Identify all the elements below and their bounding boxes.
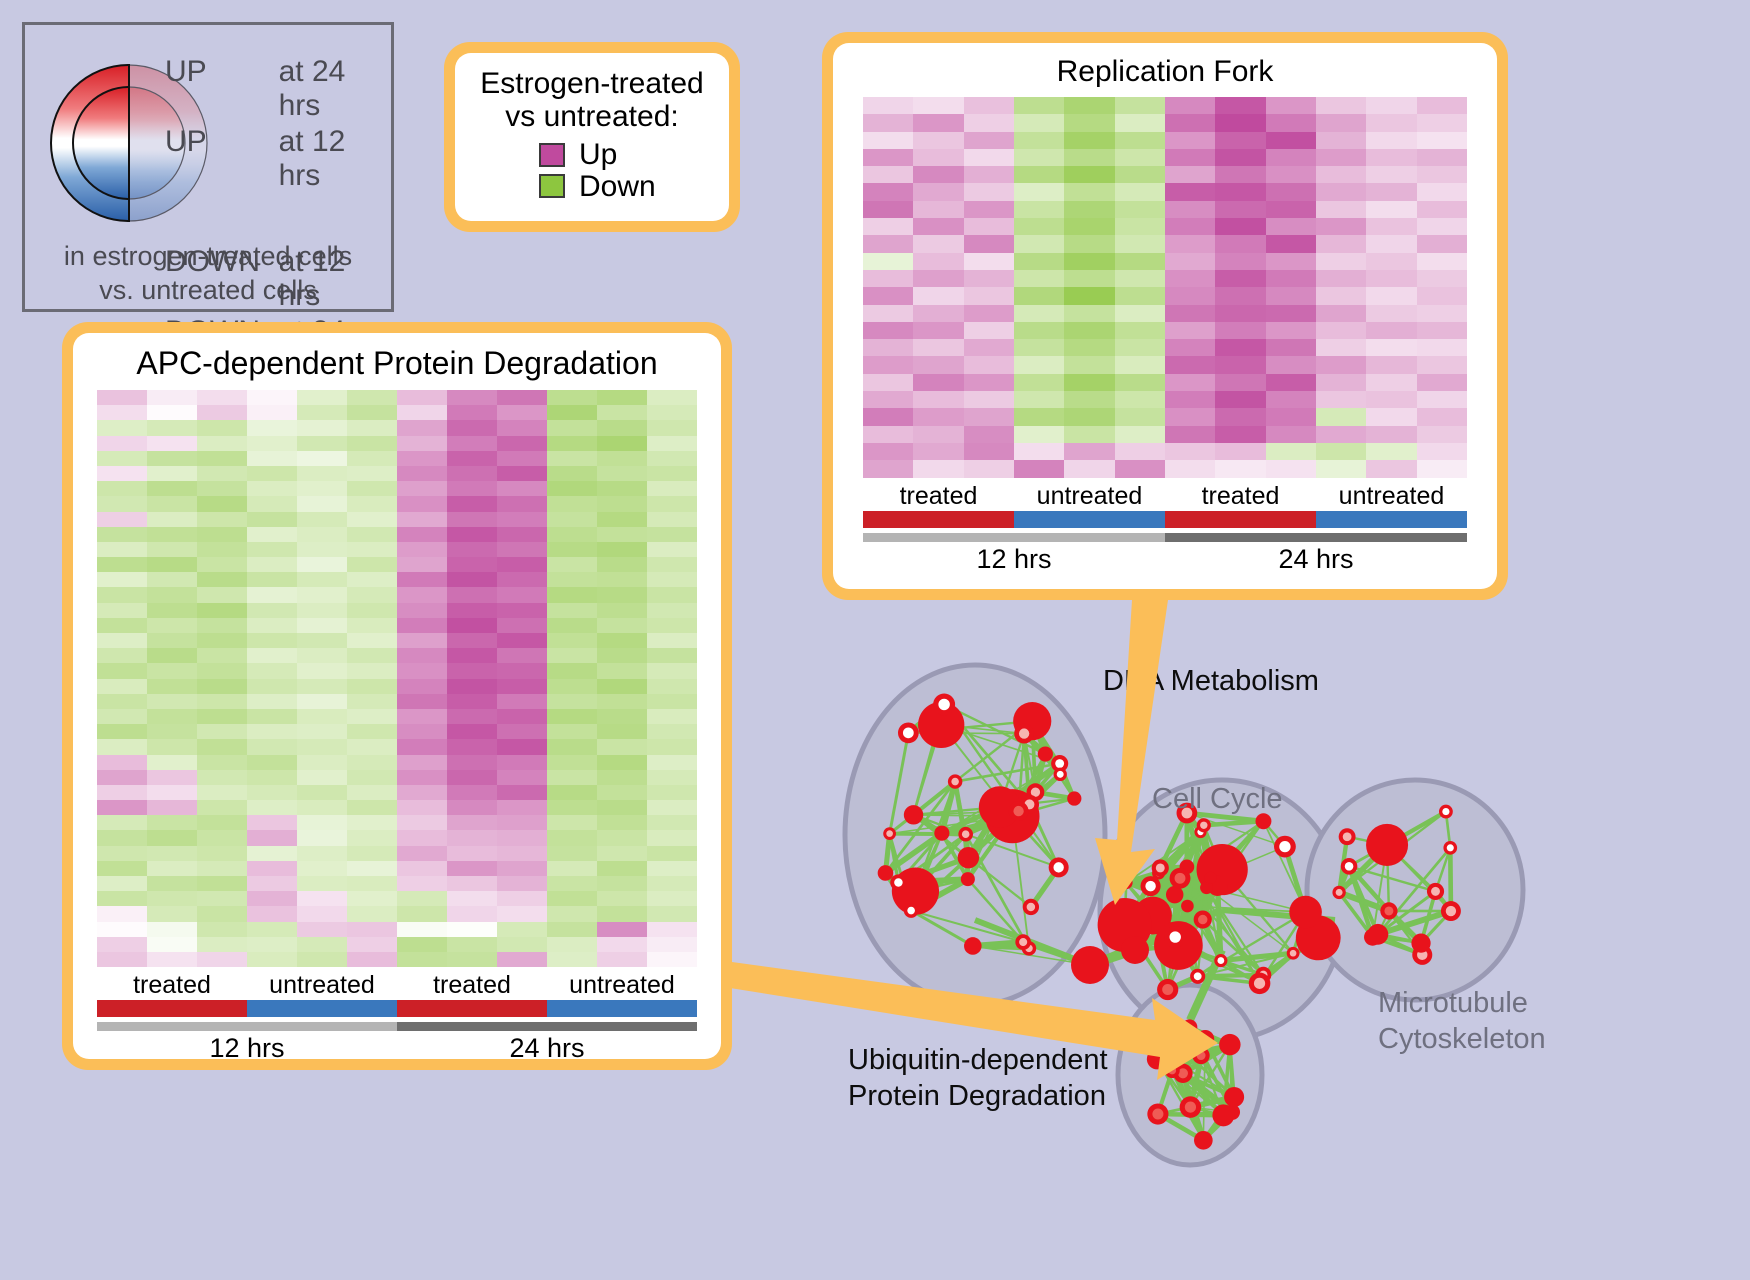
heatmap-cell xyxy=(97,876,147,891)
heatmap-cell xyxy=(247,527,297,542)
heatmap-cell xyxy=(964,114,1014,131)
network-node xyxy=(1120,876,1133,889)
heatmap-cell xyxy=(147,876,197,891)
heatmap-cell xyxy=(397,587,447,602)
heatmap-cell xyxy=(97,785,147,800)
heatmap-cell xyxy=(547,390,597,405)
heatmap-cell xyxy=(647,952,697,967)
network-node xyxy=(1164,1052,1181,1069)
heatmap-cell xyxy=(297,420,347,435)
heatmap-cell xyxy=(247,466,297,481)
heatmap-cell xyxy=(964,460,1014,477)
heatmap-cell xyxy=(1165,270,1215,287)
network-node xyxy=(1427,883,1444,900)
heatmap-cell xyxy=(297,390,347,405)
network-node xyxy=(1180,1096,1202,1118)
heatmap-cell xyxy=(1266,149,1316,166)
heatmap-cell xyxy=(1115,460,1165,477)
network-node xyxy=(1380,902,1397,919)
heatmap-cell xyxy=(347,633,397,648)
heatmap-cell xyxy=(964,183,1014,200)
heatmap-cell xyxy=(597,906,647,921)
heatmap-cell xyxy=(497,618,547,633)
heatmap-cell xyxy=(647,815,697,830)
heatmap-cell xyxy=(547,466,597,481)
heatmap-cell xyxy=(197,952,247,967)
heatmap-cell xyxy=(497,906,547,921)
heatmap-cell xyxy=(1215,426,1265,443)
network-node xyxy=(933,693,955,715)
heatmap-cell xyxy=(497,694,547,709)
heatmap-cell xyxy=(397,739,447,754)
heatmap-cell xyxy=(1316,322,1366,339)
heatmap-cell xyxy=(397,830,447,845)
heatmap-cell xyxy=(247,390,297,405)
heatmap-cell xyxy=(447,542,497,557)
heatmap-cell xyxy=(1115,253,1165,270)
heatmap-cell xyxy=(397,755,447,770)
heatmap-cell xyxy=(647,755,697,770)
heatmap-cell xyxy=(1366,253,1416,270)
heatmap-cell xyxy=(1316,426,1366,443)
heatmap-cell xyxy=(1215,391,1265,408)
heatmap-cell xyxy=(913,114,963,131)
heatmap-cell xyxy=(97,436,147,451)
heatmap-cell xyxy=(913,149,963,166)
heatmap-cell xyxy=(297,815,347,830)
heatmap-cell xyxy=(1014,287,1064,304)
heatmap-cell xyxy=(863,322,913,339)
network-node xyxy=(1038,746,1053,761)
heatmap-cell xyxy=(1064,426,1114,443)
group-label: untreated xyxy=(1014,482,1165,511)
heatmap-cell xyxy=(447,405,497,420)
heatmap-cell xyxy=(447,846,497,861)
heatmap-cell xyxy=(297,633,347,648)
heatmap-cell xyxy=(497,785,547,800)
heatmap-cell xyxy=(397,922,447,937)
replication-fork-group-labels: treated untreated treated untreated xyxy=(863,482,1467,511)
heatmap-cell xyxy=(1316,408,1366,425)
heatmap-cell xyxy=(297,587,347,602)
heatmap-cell xyxy=(964,305,1014,322)
heatmap-cell xyxy=(447,724,497,739)
heatmap-cell xyxy=(147,800,197,815)
heatmap-cell xyxy=(347,527,397,542)
heatmap-cell xyxy=(397,785,447,800)
heatmap-cell xyxy=(1014,235,1064,252)
heatmap-cell xyxy=(597,618,647,633)
heatmap-cell xyxy=(1417,426,1467,443)
heatmap-cell xyxy=(597,557,647,572)
heatmap-cell xyxy=(147,922,197,937)
heatmap-cell xyxy=(347,451,397,466)
heatmap-cell xyxy=(247,496,297,511)
heatmap-cell xyxy=(547,876,597,891)
heatmap-cell xyxy=(97,846,147,861)
heatmap-cell xyxy=(447,922,497,937)
heatmap-cell xyxy=(1366,166,1416,183)
heatmap-cell xyxy=(863,391,913,408)
heatmap-cell xyxy=(1316,460,1366,477)
heatmap-cell xyxy=(247,952,297,967)
heatmap-cell xyxy=(863,166,913,183)
network-node xyxy=(1332,886,1345,899)
heatmap-cell xyxy=(1417,253,1467,270)
heatmap-cell xyxy=(97,937,147,952)
heatmap-cell xyxy=(1215,183,1265,200)
heatmap-cell xyxy=(97,755,147,770)
heatmap-cell xyxy=(597,542,647,557)
heatmap-cell xyxy=(447,709,497,724)
heatmap-cell xyxy=(1014,443,1064,460)
heatmap-cell xyxy=(147,436,197,451)
heatmap-cell xyxy=(447,496,497,511)
heatmap-cell xyxy=(447,876,497,891)
heatmap-cell xyxy=(913,201,963,218)
heatmap-cell xyxy=(1115,114,1165,131)
heatmap-cell xyxy=(197,785,247,800)
heatmap-cell xyxy=(647,937,697,952)
heatmap-cell xyxy=(1064,132,1114,149)
heatmap-cell xyxy=(1165,235,1215,252)
cluster-label-cell-cycle: Cell Cycle xyxy=(1152,783,1283,816)
heatmap-cell xyxy=(1115,149,1165,166)
heatmap-cell xyxy=(647,922,697,937)
heatmap-cell xyxy=(347,420,397,435)
network-node xyxy=(1441,901,1461,921)
heatmap-cell xyxy=(347,952,397,967)
heatmap-cell xyxy=(1014,166,1064,183)
heatmap-cell xyxy=(597,815,647,830)
heatmap-cell xyxy=(647,739,697,754)
heatmap-cell xyxy=(547,861,597,876)
network-node xyxy=(1249,973,1271,995)
heatmap-cell xyxy=(547,587,597,602)
apc-degradation-heatmap xyxy=(97,390,697,967)
heatmap-cell xyxy=(147,755,197,770)
heatmap-cell xyxy=(1064,270,1114,287)
network-node xyxy=(1366,824,1408,866)
heatmap-cell xyxy=(547,405,597,420)
heatmap-cell xyxy=(97,603,147,618)
heatmap-cell xyxy=(647,436,697,451)
heatmap-cell xyxy=(547,800,597,815)
heatmap-cell xyxy=(197,512,247,527)
heatmap-cell xyxy=(597,603,647,618)
heatmap-cell xyxy=(913,253,963,270)
heatmap-cell xyxy=(1215,305,1265,322)
heatmap-cell xyxy=(647,785,697,800)
heatmap-cell xyxy=(247,800,297,815)
heatmap-cell xyxy=(497,527,547,542)
heatmap-cell xyxy=(1366,270,1416,287)
heatmap-cell xyxy=(447,815,497,830)
heatmap-cell xyxy=(347,405,397,420)
network-node xyxy=(1147,1103,1168,1124)
heatmap-cell xyxy=(964,391,1014,408)
heatmap-cell xyxy=(1417,270,1467,287)
heatmap-cell xyxy=(913,339,963,356)
heatmap-cell xyxy=(347,694,397,709)
heatmap-cell xyxy=(247,891,297,906)
heatmap-cell xyxy=(964,443,1014,460)
heatmap-cell xyxy=(1417,235,1467,252)
heatmap-cell xyxy=(497,709,547,724)
heatmap-cell xyxy=(1115,356,1165,373)
heatmap-cell xyxy=(1115,391,1165,408)
heatmap-cell xyxy=(97,694,147,709)
network-node xyxy=(934,826,949,841)
heatmap-cell xyxy=(547,496,597,511)
heatmap-cell xyxy=(197,663,247,678)
heatmap-cell xyxy=(497,770,547,785)
heatmap-cell xyxy=(1165,166,1215,183)
heatmap-cell xyxy=(397,770,447,785)
heatmap-cell xyxy=(1215,97,1265,114)
heatmap-cell xyxy=(97,830,147,845)
heatmap-cell xyxy=(913,235,963,252)
heatmap-cell xyxy=(647,648,697,663)
heatmap-cell xyxy=(447,830,497,845)
heatmap-cell xyxy=(147,724,197,739)
group-label: treated xyxy=(863,482,1014,511)
heatmap-cell xyxy=(647,603,697,618)
heatmap-cell xyxy=(247,557,297,572)
heatmap-cell xyxy=(197,405,247,420)
heatmap-cell xyxy=(397,846,447,861)
group-label: untreated xyxy=(1316,482,1467,511)
heatmap-cell xyxy=(1215,374,1265,391)
heatmap-cell xyxy=(547,694,597,709)
figure-canvas: UP at 24 hrs UP at 12 hrs DOWN at 12 hrs… xyxy=(0,0,1750,1279)
heatmap-cell xyxy=(1064,408,1114,425)
heatmap-cell xyxy=(447,739,497,754)
heatmap-cell xyxy=(497,800,547,815)
heatmap-cell xyxy=(1366,149,1416,166)
heatmap-cell xyxy=(497,724,547,739)
heatmap-cell xyxy=(597,739,647,754)
time-bar-segment xyxy=(863,533,1165,542)
heatmap-cell xyxy=(1316,235,1366,252)
heatmap-cell xyxy=(1316,201,1366,218)
heatmap-cell xyxy=(397,937,447,952)
heatmap-cell xyxy=(1417,132,1467,149)
heatmap-cell xyxy=(1014,132,1064,149)
heatmap-cell xyxy=(197,496,247,511)
heatmap-cell xyxy=(1115,218,1165,235)
heatmap-cell xyxy=(1417,322,1467,339)
heatmap-cell xyxy=(547,618,597,633)
heatmap-cell xyxy=(447,800,497,815)
heatmap-cell xyxy=(1316,391,1366,408)
heatmap-cell xyxy=(1417,408,1467,425)
heatmap-cell xyxy=(647,709,697,724)
heatmap-cell xyxy=(97,557,147,572)
heatmap-cell xyxy=(197,922,247,937)
heatmap-cell xyxy=(647,830,697,845)
heatmap-cell xyxy=(197,891,247,906)
network-node xyxy=(1054,768,1067,781)
key-item-label: Up xyxy=(579,139,617,171)
heatmap-cell xyxy=(647,633,697,648)
heatmap-cell xyxy=(964,374,1014,391)
heatmap-cell xyxy=(347,891,397,906)
heatmap-cell xyxy=(497,922,547,937)
heatmap-cell xyxy=(1417,166,1467,183)
heatmap-cell xyxy=(297,512,347,527)
heatmap-cell xyxy=(297,785,347,800)
network-node xyxy=(883,827,896,840)
heatmap-cell xyxy=(1115,426,1165,443)
heatmap-cell xyxy=(297,663,347,678)
heatmap-cell xyxy=(347,587,397,602)
heatmap-cell xyxy=(297,861,347,876)
heatmap-cell xyxy=(597,922,647,937)
heatmap-cell xyxy=(247,648,297,663)
heatmap-cell xyxy=(247,906,297,921)
heatmap-cell xyxy=(547,815,597,830)
heatmap-cell xyxy=(863,426,913,443)
heatmap-cell xyxy=(297,648,347,663)
heatmap-cell xyxy=(1417,114,1467,131)
heatmap-cell xyxy=(447,557,497,572)
heatmap-cell xyxy=(197,906,247,921)
heatmap-cell xyxy=(97,481,147,496)
network-node xyxy=(1443,841,1457,855)
network-node xyxy=(1015,934,1031,950)
heatmap-cell xyxy=(913,391,963,408)
heatmap-cell xyxy=(1266,391,1316,408)
network-node xyxy=(1339,828,1356,845)
group-label: treated xyxy=(97,971,247,1000)
heatmap-cell xyxy=(447,587,497,602)
heatmap-cell xyxy=(1064,114,1114,131)
heatmap-cell xyxy=(1115,305,1165,322)
network-node xyxy=(904,805,923,824)
heatmap-cell xyxy=(1115,166,1165,183)
heatmap-cell xyxy=(1266,356,1316,373)
heatmap-cell xyxy=(297,846,347,861)
heatmap-cell xyxy=(1366,460,1416,477)
heatmap-cell xyxy=(597,755,647,770)
heatmap-cell xyxy=(547,739,597,754)
network-node xyxy=(958,847,979,868)
heatmap-cell xyxy=(147,466,197,481)
updown-key-panel: Estrogen-treated vs untreated: Up Down xyxy=(444,42,740,232)
apc-degradation-title: APC-dependent Protein Degradation xyxy=(73,333,721,382)
heatmap-cell xyxy=(97,891,147,906)
heatmap-cell xyxy=(197,755,247,770)
heatmap-cell xyxy=(597,451,647,466)
heatmap-cell xyxy=(447,861,497,876)
heatmap-cell xyxy=(1165,149,1215,166)
heatmap-cell xyxy=(97,587,147,602)
heatmap-cell xyxy=(547,542,597,557)
heatmap-cell xyxy=(1064,183,1114,200)
network-node xyxy=(1014,724,1034,744)
heatmap-cell xyxy=(347,800,397,815)
heatmap-cell xyxy=(1014,408,1064,425)
heatmap-cell xyxy=(1266,201,1316,218)
heatmap-cell xyxy=(497,876,547,891)
heatmap-cell xyxy=(1165,305,1215,322)
heatmap-cell xyxy=(647,420,697,435)
heatmap-cell xyxy=(913,356,963,373)
heatmap-cell xyxy=(347,572,397,587)
treatment-bar-segment xyxy=(247,1000,397,1017)
heatmap-cell xyxy=(497,603,547,618)
heatmap-cell xyxy=(147,512,197,527)
heatmap-cell xyxy=(1316,356,1366,373)
microtubule-label-line2: Cytoskeleton xyxy=(1378,1021,1546,1057)
heatmap-cell xyxy=(247,572,297,587)
apc-time-labels: 12 hrs 24 hrs xyxy=(97,1033,697,1064)
network-node xyxy=(1214,954,1227,967)
heatmap-cell xyxy=(1064,235,1114,252)
heatmap-cell xyxy=(547,724,597,739)
heatmap-cell xyxy=(1064,356,1114,373)
heatmap-cell xyxy=(964,97,1014,114)
heatmap-cell xyxy=(863,270,913,287)
up-swatch-icon xyxy=(539,143,565,167)
heatmap-cell xyxy=(297,891,347,906)
heatmap-cell xyxy=(913,97,963,114)
heatmap-cell xyxy=(547,648,597,663)
heatmap-cell xyxy=(247,618,297,633)
heatmap-cell xyxy=(1266,322,1316,339)
heatmap-cell xyxy=(97,618,147,633)
heatmap-cell xyxy=(247,937,297,952)
heatmap-cell xyxy=(647,663,697,678)
heatmap-cell xyxy=(597,420,647,435)
heatmap-cell xyxy=(97,405,147,420)
heatmap-cell xyxy=(347,846,397,861)
apc-heatmap-wrap: treated untreated treated untreated 12 h xyxy=(73,390,721,1064)
heatmap-cell xyxy=(97,648,147,663)
heatmap-cell xyxy=(347,481,397,496)
heatmap-cell xyxy=(247,785,297,800)
heatmap-cell xyxy=(913,408,963,425)
heatmap-cell xyxy=(347,906,397,921)
heatmap-cell xyxy=(1266,114,1316,131)
legend-row-value: at 12 hrs xyxy=(279,125,391,193)
heatmap-cell xyxy=(297,724,347,739)
heatmap-cell xyxy=(347,466,397,481)
heatmap-cell xyxy=(97,390,147,405)
heatmap-cell xyxy=(964,218,1014,235)
heatmap-cell xyxy=(647,861,697,876)
heatmap-cell xyxy=(147,663,197,678)
heatmap-cell xyxy=(1366,356,1416,373)
heatmap-cell xyxy=(1215,114,1265,131)
heatmap-cell xyxy=(913,218,963,235)
heatmap-cell xyxy=(397,906,447,921)
heatmap-cell xyxy=(297,405,347,420)
heatmap-cell xyxy=(1417,356,1467,373)
heatmap-cell xyxy=(497,587,547,602)
heatmap-cell xyxy=(247,830,297,845)
heatmap-cell xyxy=(597,709,647,724)
replication-fork-time-bar xyxy=(863,533,1467,542)
heatmap-cell xyxy=(397,557,447,572)
heatmap-cell xyxy=(1266,305,1316,322)
heatmap-cell xyxy=(1366,426,1416,443)
heatmap-cell xyxy=(547,451,597,466)
heatmap-cell xyxy=(197,709,247,724)
heatmap-cell xyxy=(863,374,913,391)
network-node xyxy=(1439,805,1453,819)
